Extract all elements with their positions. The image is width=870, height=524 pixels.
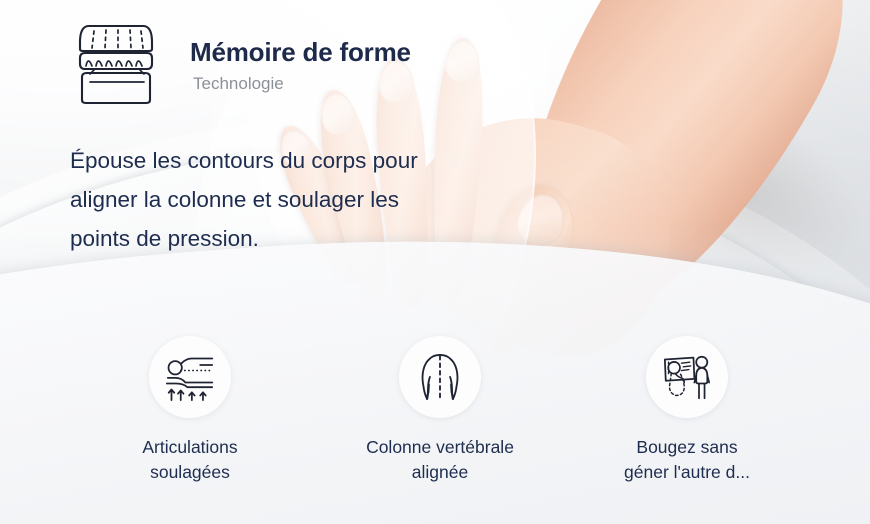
feature-item-spine: Colonne vertébrale alignée bbox=[342, 336, 538, 485]
feature-label: Bougez sans géner l'autre d... bbox=[624, 435, 750, 485]
card-header: Mémoire de forme Technologie bbox=[64, 18, 411, 110]
feature-badge bbox=[149, 336, 231, 418]
header-subtitle: Technologie bbox=[193, 74, 411, 94]
card-content: Mémoire de forme Technologie Épouse les … bbox=[0, 0, 870, 524]
person-lying-support-arrows-icon bbox=[163, 352, 217, 402]
feature-item-motion-isolation: Bougez sans géner l'autre d... bbox=[592, 336, 782, 485]
feature-label: Colonne vertébrale alignée bbox=[366, 435, 514, 485]
feature-badge bbox=[646, 336, 728, 418]
feature-label: Articulations soulagées bbox=[142, 435, 237, 485]
mattress-layers-icon bbox=[64, 18, 168, 110]
feature-item-joints: Articulations soulagées bbox=[92, 336, 288, 485]
page-title: Mémoire de forme bbox=[190, 38, 411, 67]
promo-card: Mémoire de forme Technologie Épouse les … bbox=[0, 0, 870, 524]
spine-alignment-back-icon bbox=[417, 351, 463, 403]
feature-badge bbox=[399, 336, 481, 418]
feature-list: Articulations soulagées bbox=[92, 336, 782, 485]
two-people-bed-standing-icon bbox=[661, 353, 713, 401]
description-text: Épouse les contours du corps pour aligne… bbox=[70, 141, 430, 258]
